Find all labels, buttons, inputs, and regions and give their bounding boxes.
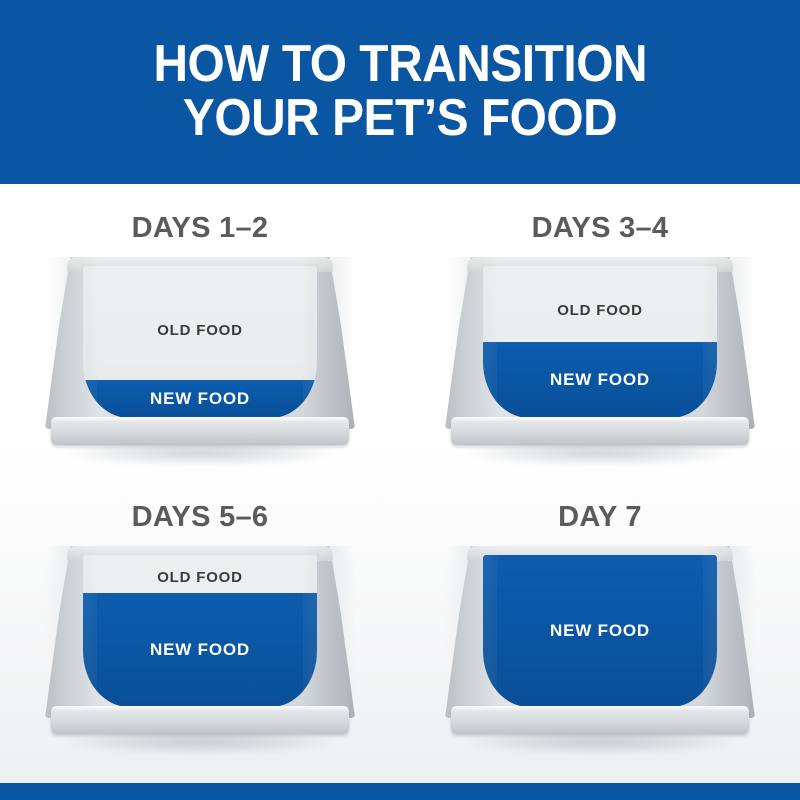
bowl-inner-cavity: OLD FOOD NEW FOOD: [83, 266, 317, 418]
bowl-foot: [51, 417, 349, 445]
panel-title: DAYS 3–4: [532, 214, 669, 243]
bowl-shadow: [467, 443, 735, 465]
footer-bar: [0, 783, 800, 800]
bowl-inner-cavity: NEW FOOD: [483, 555, 717, 707]
infographic-root: HOW TO TRANSITION YOUR PET’S FOOD DAYS 1…: [0, 0, 800, 800]
new-food-label: NEW FOOD: [550, 370, 650, 390]
new-food-label: NEW FOOD: [550, 621, 650, 641]
new-food-label: NEW FOOD: [150, 389, 250, 409]
new-food-label: NEW FOOD: [150, 640, 250, 660]
bowl-foot: [451, 706, 749, 734]
new-food-fill: NEW FOOD: [83, 593, 317, 707]
bowl-days-3-4: OLD FOOD NEW FOOD: [445, 257, 755, 462]
panel-days-1-2: DAYS 1–2 OLD FOOD NEW FOOD: [0, 184, 400, 479]
panel-title: DAYS 5–6: [132, 503, 269, 532]
page-title-line-1: HOW TO TRANSITION: [153, 38, 647, 92]
bowl-days-5-6: OLD FOOD NEW FOOD: [45, 546, 355, 751]
new-food-fill: NEW FOOD: [483, 342, 717, 418]
bowl-inner-cavity: OLD FOOD NEW FOOD: [483, 266, 717, 418]
panel-days-3-4: DAYS 3–4 OLD FOOD NEW FOOD: [400, 184, 800, 479]
panel-grid: DAYS 1–2 OLD FOOD NEW FOOD DAYS 3–4: [0, 184, 800, 783]
panel-day-7: DAY 7 NEW FOOD: [400, 479, 800, 769]
new-food-fill: NEW FOOD: [83, 380, 317, 418]
bowl-day-7: NEW FOOD: [445, 546, 755, 751]
bowl-shadow: [467, 732, 735, 754]
old-food-label: OLD FOOD: [83, 569, 317, 586]
old-food-label: OLD FOOD: [83, 322, 317, 339]
bowl-foot: [451, 417, 749, 445]
panel-title: DAYS 1–2: [132, 214, 269, 243]
header-banner: HOW TO TRANSITION YOUR PET’S FOOD: [0, 0, 800, 184]
bowl-shadow: [67, 443, 335, 465]
bowl-days-1-2: OLD FOOD NEW FOOD: [45, 257, 355, 462]
panel-days-5-6: DAYS 5–6 OLD FOOD NEW FOOD: [0, 479, 400, 769]
new-food-fill: NEW FOOD: [483, 555, 717, 707]
bowl-foot: [51, 706, 349, 734]
bowl-shadow: [67, 732, 335, 754]
old-food-label: OLD FOOD: [483, 302, 717, 319]
bowl-inner-cavity: OLD FOOD NEW FOOD: [83, 555, 317, 707]
page-title-line-2: YOUR PET’S FOOD: [183, 92, 617, 146]
panel-title: DAY 7: [558, 503, 642, 532]
